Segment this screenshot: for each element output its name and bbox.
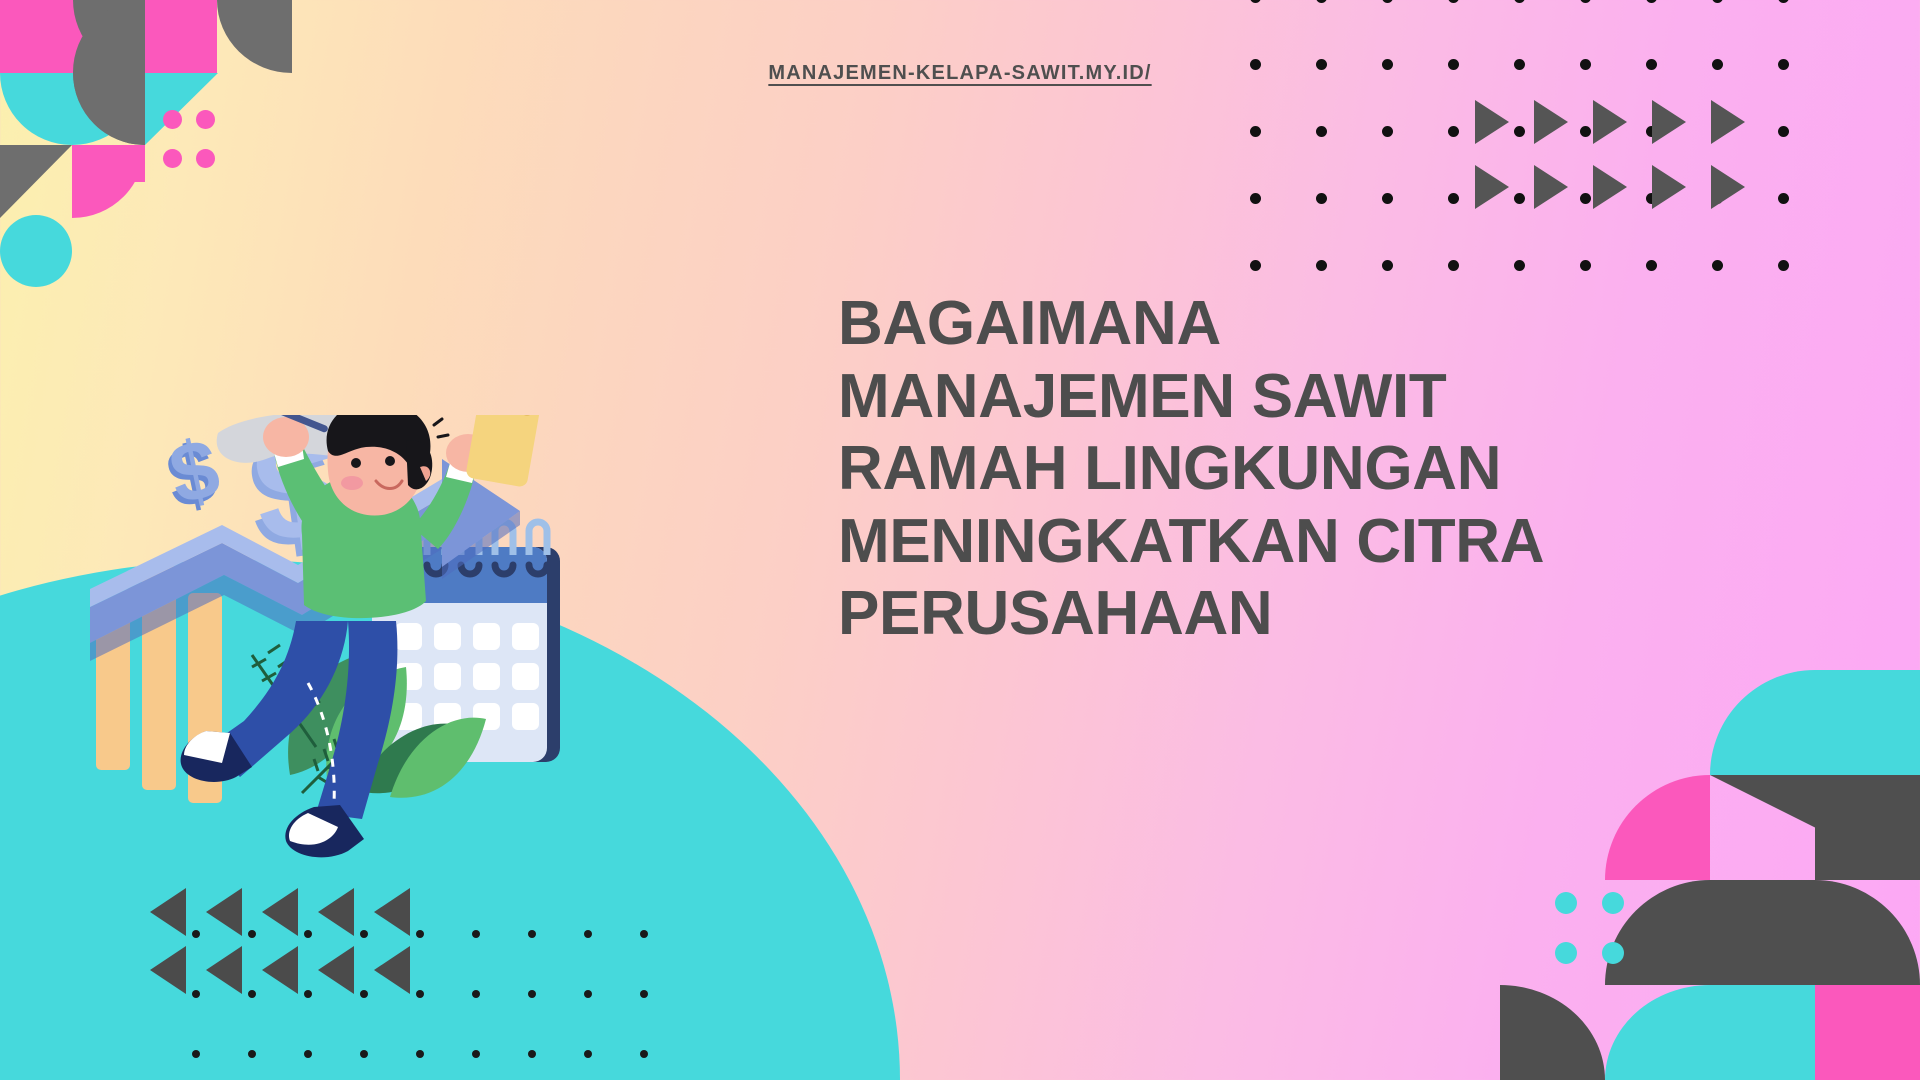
decor-dot xyxy=(416,990,424,998)
decor-dot-pink-4 xyxy=(196,149,215,168)
decor-bottom-right-cluster xyxy=(1500,670,1920,1080)
decor-dot xyxy=(1580,260,1591,271)
decor-dot xyxy=(304,990,312,998)
dollar-sign-small: $ $ xyxy=(159,420,227,526)
decor-dot xyxy=(1382,193,1393,204)
triangle-right-icon xyxy=(1475,100,1509,144)
square-pink-br-1 xyxy=(1815,985,1920,1080)
triangle-left-icon xyxy=(150,946,186,994)
square-pink-3 xyxy=(72,145,145,182)
decor-dot xyxy=(1250,126,1261,137)
decor-dot xyxy=(1316,193,1327,204)
headline-line-1: BAGAIMANA xyxy=(838,288,1708,361)
decor-dot xyxy=(1382,126,1393,137)
decor-dot xyxy=(1514,0,1525,3)
decor-dot xyxy=(248,990,256,998)
decor-dot xyxy=(1712,0,1723,3)
decor-dot xyxy=(528,1050,536,1058)
decor-dot xyxy=(1250,193,1261,204)
triangle-left-icon xyxy=(206,946,242,994)
decor-dot xyxy=(640,930,648,938)
decor-dot-pink-2 xyxy=(196,110,215,129)
decor-dot xyxy=(640,1050,648,1058)
triangle-right-icon xyxy=(1593,165,1627,209)
circle-cyan-bottom-left xyxy=(0,215,72,287)
decor-dot xyxy=(1778,193,1789,204)
semicircle-gray-br xyxy=(1605,880,1920,985)
decor-dot xyxy=(1448,126,1459,137)
decor-dot xyxy=(1778,0,1789,3)
svg-text:$: $ xyxy=(162,420,227,522)
decor-dot xyxy=(1382,260,1393,271)
site-url-link[interactable]: MANAJEMEN-KELAPA-SAWIT.MY.ID/ xyxy=(0,62,1920,85)
square-cyan-br-2 xyxy=(1710,985,1815,1080)
decor-dot xyxy=(1778,260,1789,271)
decor-dot xyxy=(1580,0,1591,3)
decor-dot-pink-1 xyxy=(163,110,182,129)
triangle-left-icon xyxy=(262,946,298,994)
quarter-circle-gray-br-2 xyxy=(1500,985,1605,1080)
decor-dot xyxy=(584,930,592,938)
decor-dot xyxy=(1448,0,1459,3)
decor-dot xyxy=(360,1050,368,1058)
decor-top-left-cluster xyxy=(0,0,300,310)
decor-top-right-pattern xyxy=(1220,0,1920,242)
triangle-right-icon xyxy=(1652,165,1686,209)
headline-line-5: PERUSAHAAN xyxy=(838,578,1708,651)
decor-dot-pink-3 xyxy=(163,149,182,168)
decor-dot xyxy=(360,930,368,938)
quarter-circle-cyan-br-1 xyxy=(1710,670,1815,775)
clipboard-icon xyxy=(465,415,541,488)
decor-dot xyxy=(1448,193,1459,204)
decor-dot xyxy=(584,990,592,998)
decor-dot xyxy=(1250,0,1261,3)
quarter-circle-cyan-br-2 xyxy=(1605,985,1710,1080)
headline-line-4: MENINGKATKAN CITRA xyxy=(838,506,1708,579)
decor-dot xyxy=(1514,260,1525,271)
triangle-right-icon xyxy=(1534,165,1568,209)
decor-dot xyxy=(304,930,312,938)
business-growth-illustration: $ $ $ $ xyxy=(90,415,700,915)
triangle-gray-1 xyxy=(0,145,72,218)
decor-dot xyxy=(1316,260,1327,271)
decor-dot xyxy=(1646,260,1657,271)
decor-dot xyxy=(472,990,480,998)
decor-dot xyxy=(472,1050,480,1058)
decor-dot xyxy=(1448,260,1459,271)
triangle-right-icon xyxy=(1652,100,1686,144)
page-title: BAGAIMANA MANAJEMEN SAWIT RAMAH LINGKUNG… xyxy=(838,288,1708,651)
decor-dot xyxy=(1250,260,1261,271)
decor-dot xyxy=(1514,126,1525,137)
triangle-left-icon xyxy=(318,946,354,994)
decor-dot xyxy=(472,930,480,938)
triangle-right-icon xyxy=(1711,165,1745,209)
triangle-left-icon xyxy=(374,946,410,994)
decor-dot xyxy=(1778,126,1789,137)
decor-dot-cyan-2 xyxy=(1602,892,1624,914)
headline-line-3: RAMAH LINGKUNGAN xyxy=(838,433,1708,506)
decor-dot-cyan-3 xyxy=(1555,942,1577,964)
decor-dot xyxy=(584,1050,592,1058)
decor-dot xyxy=(192,1050,200,1058)
headline-line-2: MANAJEMEN SAWIT xyxy=(838,361,1708,434)
decor-dot xyxy=(192,990,200,998)
decor-dot xyxy=(1646,0,1657,3)
triangle-right-icon xyxy=(1593,100,1627,144)
triangle-right-icon xyxy=(1711,100,1745,144)
decor-dot xyxy=(640,990,648,998)
triangle-right-icon xyxy=(1475,165,1509,209)
decor-dot xyxy=(1382,0,1393,3)
decor-dot xyxy=(416,930,424,938)
decor-dot xyxy=(248,930,256,938)
decor-dot xyxy=(1712,260,1723,271)
decor-dot xyxy=(1316,126,1327,137)
decor-dot xyxy=(1580,126,1591,137)
square-gray-br-1 xyxy=(1815,775,1920,880)
decor-dot xyxy=(248,1050,256,1058)
decor-dot-cyan-4 xyxy=(1602,942,1624,964)
decor-dot xyxy=(304,1050,312,1058)
decor-dot xyxy=(1316,0,1327,3)
decor-dot xyxy=(528,990,536,998)
decor-dot xyxy=(528,930,536,938)
decor-dot xyxy=(360,990,368,998)
square-cyan-br-1 xyxy=(1815,670,1920,775)
decor-dot xyxy=(1580,193,1591,204)
decor-dot-cyan-1 xyxy=(1555,892,1577,914)
quarter-circle-pink-br-1 xyxy=(1605,775,1710,880)
decor-dot xyxy=(192,930,200,938)
decor-dot xyxy=(416,1050,424,1058)
decor-dot xyxy=(1514,193,1525,204)
triangle-right-icon xyxy=(1534,100,1568,144)
